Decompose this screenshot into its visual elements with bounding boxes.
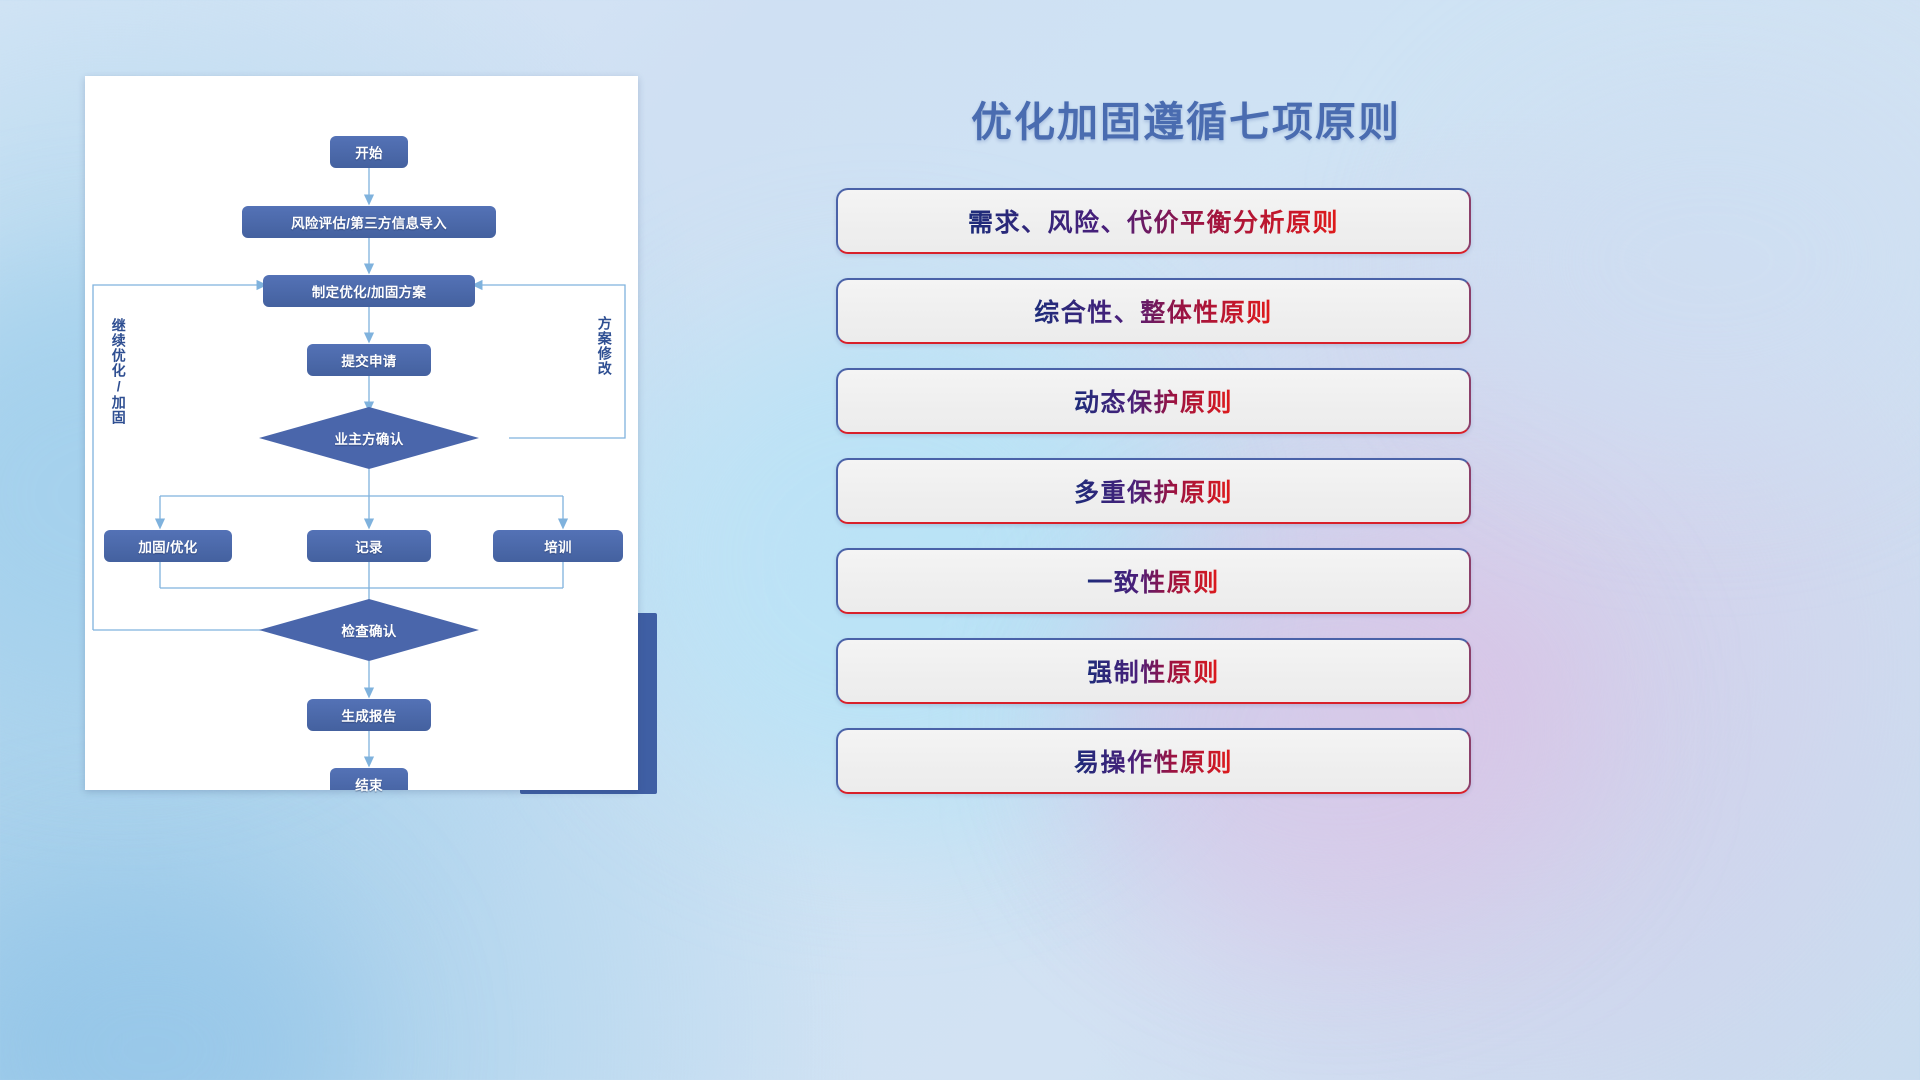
flow-node-generate-report-label: 生成报告 [341, 705, 396, 725]
principle-card-2[interactable]: 综合性、整体性原则 [836, 278, 1471, 344]
flow-node-generate-report[interactable]: 生成报告 [307, 699, 431, 731]
principle-card-4[interactable]: 多重保护原则 [836, 458, 1471, 524]
flow-node-owner-confirm-label: 业主方确认 [335, 428, 404, 448]
principle-card-1[interactable]: 需求、风险、代价平衡分析原则 [836, 188, 1471, 254]
flow-node-start[interactable]: 开始 [330, 136, 408, 168]
flow-node-risk-assessment-label: 风险评估/第三方信息导入 [291, 212, 447, 232]
principle-card-7[interactable]: 易操作性原则 [836, 728, 1471, 794]
principle-card-6-label: 强制性原则 [1087, 653, 1220, 689]
flow-node-end-label: 结束 [355, 774, 383, 794]
principles-list: 需求、风险、代价平衡分析原则 综合性、整体性原则 动态保护原则 多重保护原则 一… [836, 188, 1476, 818]
background-blob-bottom [0, 880, 360, 1080]
principles-panel: 优化加固遵循七项原则 需求、风险、代价平衡分析原则 综合性、整体性原则 动态保护… [836, 0, 1920, 1080]
flow-node-training[interactable]: 培训 [493, 530, 623, 562]
flow-node-plan-label: 制定优化/加固方案 [312, 281, 426, 301]
flow-node-plan[interactable]: 制定优化/加固方案 [263, 275, 475, 307]
principle-card-4-label: 多重保护原则 [1074, 473, 1233, 509]
flow-node-reinforcement[interactable]: 加固/优化 [104, 530, 232, 562]
flow-node-record-label: 记录 [355, 536, 383, 556]
flow-node-start-label: 开始 [355, 142, 383, 162]
page-title: 优化加固遵循七项原则 [836, 88, 1536, 148]
principle-card-3-label: 动态保护原则 [1074, 383, 1233, 419]
principle-card-2-label: 综合性、整体性原则 [1034, 293, 1273, 329]
principle-card-7-label: 易操作性原则 [1074, 743, 1233, 779]
flow-node-submit-label: 提交申请 [341, 350, 396, 370]
principle-card-5-label: 一致性原则 [1087, 563, 1220, 599]
flow-node-check-confirm[interactable]: 检查确认 [259, 614, 479, 646]
flow-edge-label-continue-optimize: 继续优化/加固 [111, 318, 126, 425]
principle-card-1-label: 需求、风险、代价平衡分析原则 [968, 203, 1339, 239]
principle-card-3[interactable]: 动态保护原则 [836, 368, 1471, 434]
principle-card-5[interactable]: 一致性原则 [836, 548, 1471, 614]
flow-node-end[interactable]: 结束 [330, 768, 408, 800]
flow-node-training-label: 培训 [544, 536, 572, 556]
flow-node-record[interactable]: 记录 [307, 530, 431, 562]
flow-node-owner-confirm[interactable]: 业主方确认 [259, 422, 479, 454]
flow-node-reinforcement-label: 加固/优化 [138, 536, 197, 556]
principle-card-6[interactable]: 强制性原则 [836, 638, 1471, 704]
flow-edge-label-plan-revision: 方案修改 [597, 316, 612, 376]
flow-node-risk-assessment[interactable]: 风险评估/第三方信息导入 [242, 206, 496, 238]
flow-node-submit[interactable]: 提交申请 [307, 344, 431, 376]
flowchart-panel: 开始 风险评估/第三方信息导入 制定优化/加固方案 提交申请 业主方确认 加固/… [85, 76, 657, 794]
flow-node-check-confirm-label: 检查确认 [341, 620, 396, 640]
